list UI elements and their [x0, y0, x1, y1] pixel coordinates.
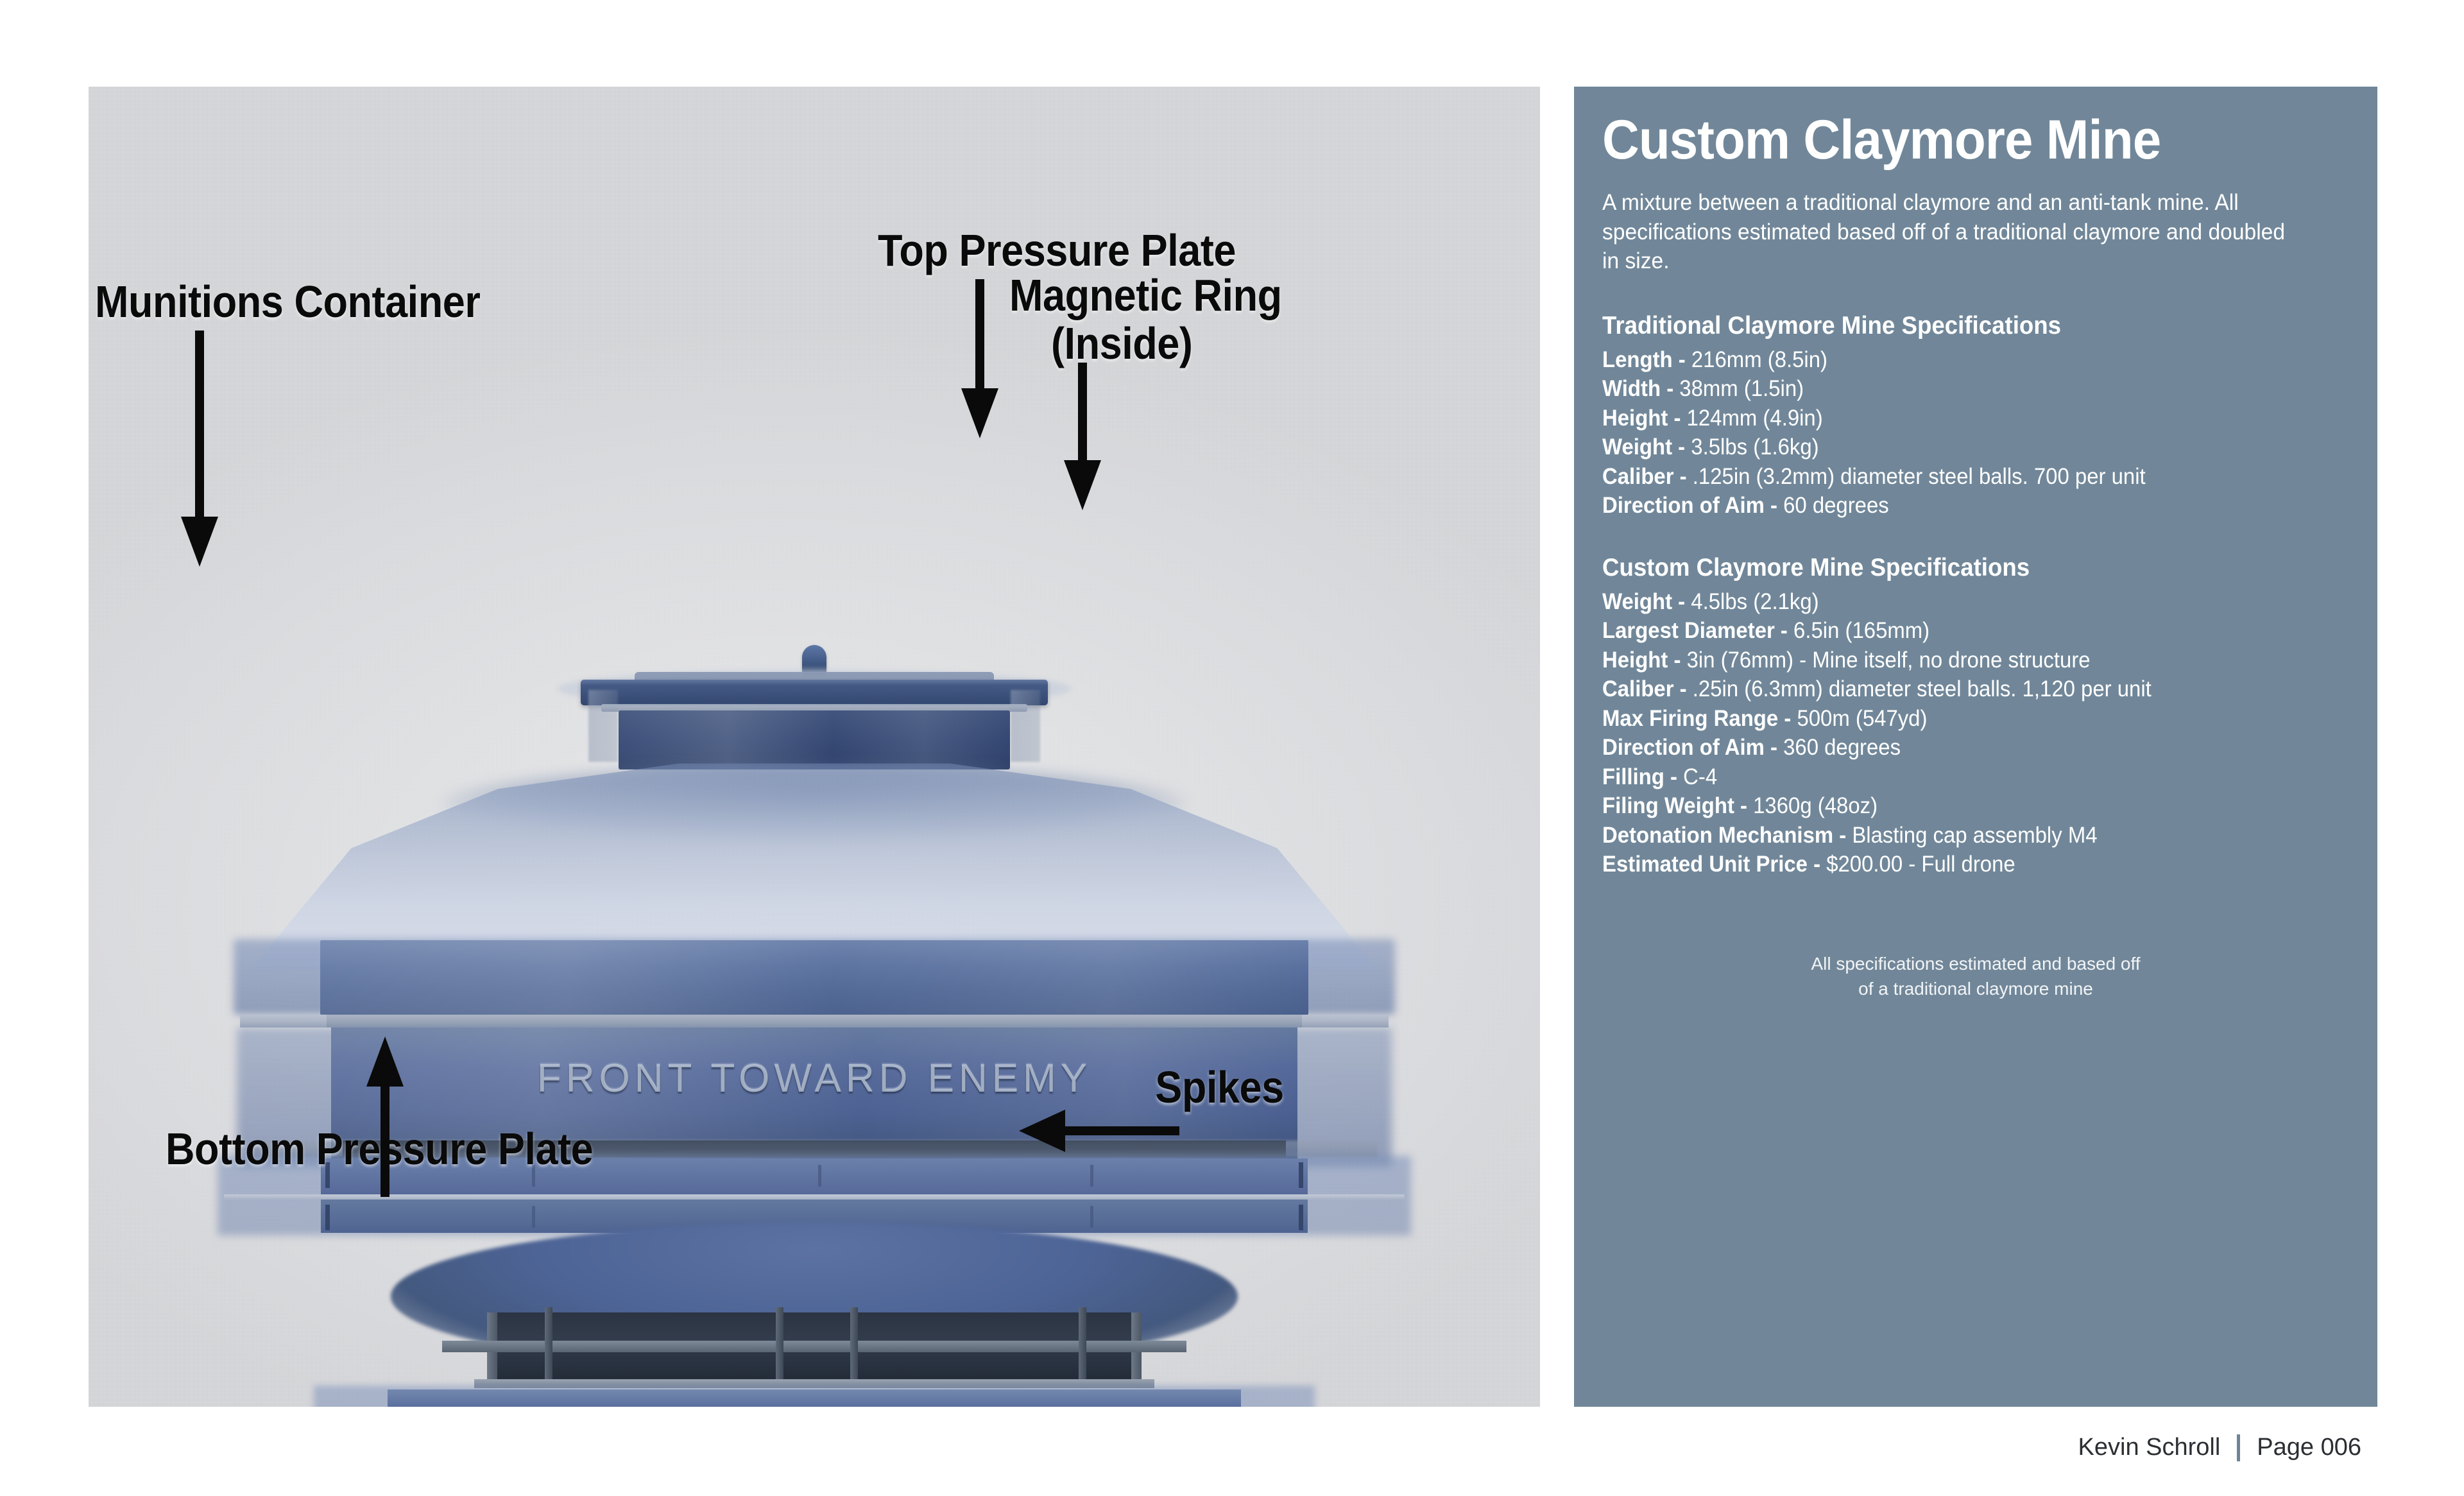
- spec-value: .25in (6.3mm) diameter steel balls. 1,12…: [1687, 676, 2152, 701]
- spec-row: Max Firing Range - 500m (547yd): [1602, 704, 2304, 734]
- specifications-sidebar: Custom Claymore Mine A mixture between a…: [1574, 87, 2377, 1407]
- mine-cap-post-left: [588, 690, 618, 762]
- spec-key: Caliber -: [1602, 676, 1687, 701]
- spec-value: $200.00 - Full drone: [1820, 852, 2015, 877]
- spec-key: Detonation Mechanism -: [1602, 823, 1846, 848]
- mine-band-divider-inner: [327, 1015, 1302, 1027]
- mine-cage-post: [1079, 1307, 1086, 1386]
- front-toward-enemy-embossed-text: FRONT TOWARD ENEMY: [331, 1056, 1297, 1101]
- spec-row: Estimated Unit Price - $200.00 - Full dr…: [1602, 850, 2304, 879]
- estimation-disclaimer: All specifications estimated and based o…: [1602, 951, 2349, 1001]
- mine-cage-post: [776, 1307, 783, 1386]
- spec-key: Weight -: [1602, 434, 1685, 460]
- spec-row: Direction of Aim - 360 degrees: [1602, 733, 2304, 762]
- arrow-shaft: [1057, 1126, 1179, 1135]
- mine-skirt-tick: [532, 1206, 535, 1228]
- spec-row: Detonation Mechanism - Blasting cap asse…: [1602, 821, 2304, 850]
- mine-top-pressure-plate: [581, 680, 1048, 705]
- spec-key: Direction of Aim -: [1602, 493, 1777, 518]
- spec-key: Height -: [1602, 406, 1681, 431]
- mine-skirt-tick: [818, 1165, 821, 1187]
- spec-key: Estimated Unit Price -: [1602, 852, 1820, 877]
- arrow-head-down-icon: [181, 517, 218, 567]
- custom-specs-heading: Custom Claymore Mine Specifications: [1602, 554, 2304, 582]
- spec-value: 38mm (1.5in): [1673, 376, 1804, 401]
- spec-key: Filling -: [1602, 764, 1677, 789]
- spec-row: Caliber - .25in (6.3mm) diameter steel b…: [1602, 675, 2304, 704]
- mine-cage-rod: [442, 1341, 1186, 1352]
- spec-value: 4.5lbs (2.1kg): [1685, 589, 1818, 614]
- footer-author: Kevin Schroll: [2078, 1434, 2221, 1461]
- spec-row: Filling - C-4: [1602, 762, 2304, 792]
- spec-key: Filing Weight -: [1602, 793, 1747, 818]
- arrow-head-down-icon: [1064, 460, 1101, 510]
- spec-value: 216mm (8.5in): [1686, 347, 1827, 372]
- arrow-shaft: [1078, 363, 1087, 460]
- mine-skirt-tick: [1299, 1205, 1303, 1230]
- spec-row: Length - 216mm (8.5in): [1602, 345, 2304, 375]
- spec-value: 360 degrees: [1777, 735, 1901, 760]
- label-top-pressure-plate: Top Pressure Plate: [878, 228, 1236, 273]
- custom-specs-group: Custom Claymore Mine Specifications Weig…: [1602, 554, 2349, 879]
- spec-value: .125in (3.2mm) diameter steel balls. 700…: [1687, 464, 2146, 489]
- spec-value: 1360g (48oz): [1747, 793, 1878, 818]
- spec-key: Caliber -: [1602, 464, 1687, 489]
- spec-row: Width - 38mm (1.5in): [1602, 374, 2304, 404]
- description-paragraph: A mixture between a traditional claymore…: [1602, 188, 2292, 276]
- traditional-specs-heading: Traditional Claymore Mine Specifications: [1602, 312, 2304, 340]
- mine-cap-barrel-highlight: [619, 710, 1010, 769]
- spec-value: C-4: [1677, 764, 1717, 789]
- label-magnetic-ring: Magnetic Ring: [1009, 273, 1282, 318]
- footer-separator-icon: [2237, 1434, 2240, 1461]
- spec-value: Blasting cap assembly M4: [1846, 823, 2097, 848]
- mine-skirt-separator: [224, 1194, 1405, 1199]
- spec-key: Width -: [1602, 376, 1673, 401]
- arrow-shaft: [975, 279, 984, 388]
- mine-bottom-pressure-plate: [388, 1389, 1241, 1407]
- mine-munitions-band-highlight: [320, 940, 1308, 1015]
- arrow-shaft: [381, 1083, 389, 1197]
- spec-value: 124mm (4.9in): [1681, 406, 1822, 431]
- spec-key: Weight -: [1602, 589, 1685, 614]
- footer-page-number: Page 006: [2257, 1434, 2361, 1461]
- spec-value: 60 degrees: [1777, 493, 1889, 518]
- spec-key: Height -: [1602, 648, 1681, 673]
- spec-row: Weight - 4.5lbs (2.1kg): [1602, 587, 2304, 617]
- arrow-shaft: [195, 331, 204, 517]
- spec-value: 500m (547yd): [1791, 706, 1927, 731]
- mine-skirt-tick: [1299, 1162, 1303, 1188]
- spec-value: 6.5in (165mm): [1788, 618, 1929, 643]
- spec-row: Height - 124mm (4.9in): [1602, 404, 2304, 433]
- spec-key: Largest Diameter -: [1602, 618, 1788, 643]
- spec-value: 3.5lbs (1.6kg): [1685, 434, 1818, 460]
- spec-row: Caliber - .125in (3.2mm) diameter steel …: [1602, 462, 2304, 492]
- mine-cap-post-right: [1011, 690, 1040, 762]
- page-footer: Kevin Schroll Page 006: [2078, 1434, 2361, 1461]
- page-title: Custom Claymore Mine: [1602, 112, 2297, 168]
- mine-cage-post: [545, 1307, 552, 1386]
- spec-row: Weight - 3.5lbs (1.6kg): [1602, 433, 2304, 462]
- arrow-head-down-icon: [961, 388, 998, 438]
- traditional-specs-group: Traditional Claymore Mine Specifications…: [1602, 312, 2349, 520]
- mine-cage-post: [850, 1307, 858, 1386]
- label-bottom-pressure-plate: Bottom Pressure Plate: [166, 1126, 593, 1172]
- spec-row: Filing Weight - 1360g (48oz): [1602, 791, 2304, 821]
- mine-skirt-tick: [1090, 1165, 1093, 1187]
- mine-skirt-tick: [1090, 1206, 1093, 1228]
- label-magnetic-ring-inside: (Inside): [1051, 321, 1192, 366]
- mine-skirt-tick: [325, 1205, 330, 1230]
- spec-value: 3in (76mm) - Mine itself, no drone struc…: [1681, 648, 2090, 673]
- spec-row: Height - 3in (76mm) - Mine itself, no dr…: [1602, 646, 2304, 675]
- spec-row: Direction of Aim - 60 degrees: [1602, 491, 2304, 520]
- product-render-panel: FRONT TOWARD ENEMY: [89, 87, 1540, 1407]
- label-spikes: Spikes: [1155, 1065, 1283, 1110]
- spec-key: Max Firing Range -: [1602, 706, 1791, 731]
- spec-key: Direction of Aim -: [1602, 735, 1777, 760]
- label-munitions-container: Munitions Container: [95, 279, 480, 325]
- spec-row: Largest Diameter - 6.5in (165mm): [1602, 616, 2304, 646]
- spec-key: Length -: [1602, 347, 1686, 372]
